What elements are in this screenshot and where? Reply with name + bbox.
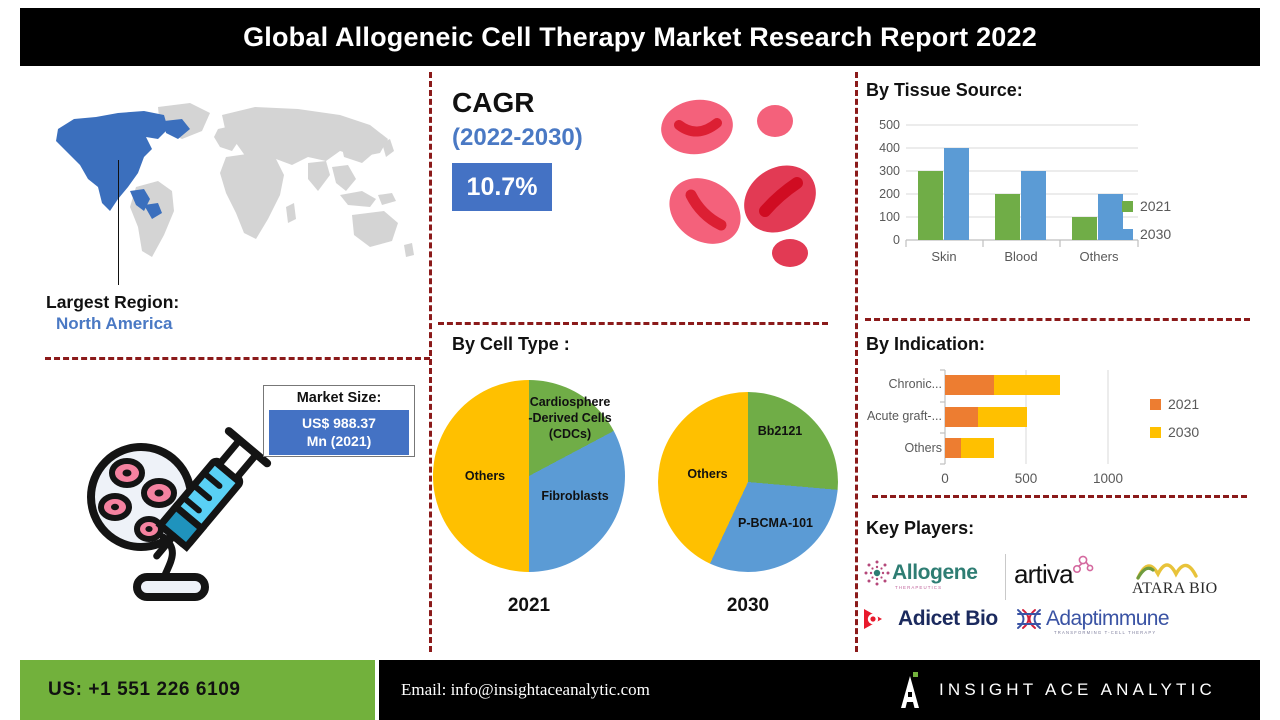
vertical-divider-left [429,72,432,652]
legend-label-2021: 2021 [1140,198,1171,214]
logo-adaptimmune[interactable]: Adaptimmune TRANSFORMING T-CELL THERAPY [1014,604,1169,634]
allogene-mark-icon [862,558,892,588]
cagr-block: CAGR (2022-2030) 10.7% [452,85,652,211]
artiva-wordmark: artiva [1014,559,1073,590]
logo-allogene[interactable]: Allogene THERAPEUTICS [862,558,977,588]
footer-brand: INSIGHT ACE ANALYTIC [899,660,1216,720]
footer-bar: Email: info@insightaceanalytic.com INSIG… [379,660,1260,720]
svg-text:400: 400 [879,141,900,155]
market-size-label: Market Size: [269,389,409,408]
largest-region-label: Largest Region: [46,291,386,313]
pie-2030-label-pbcma: P-BCMA-101 [718,515,833,531]
svg-text:100: 100 [879,210,900,224]
cagr-value: 10.7% [467,173,538,202]
cdc-line-3: (CDCs) [549,427,591,441]
world-map-icon [40,95,420,275]
cdc-line-2: -Derived Cells [528,411,611,425]
adaptimmune-tagline: TRANSFORMING T-CELL THERAPY [1054,630,1156,635]
logo-artiva[interactable]: artiva [1014,554,1097,594]
indication-chart: Chronic... Acute graft-... Others [866,366,1156,491]
atara-wordmark: ATARA BIO [1132,580,1217,598]
cagr-label: CAGR [452,85,652,121]
artiva-mark-icon [1071,554,1097,580]
tissue-source-title: By Tissue Source: [866,80,1023,101]
indication-legend-label-2021: 2021 [1168,396,1199,412]
market-size-value-line1: US$ 988.37 [269,414,409,432]
footer-phone-bar: US: +1 551 226 6109 [20,660,375,720]
pie-2030-label-bb2121: Bb2121 [735,423,825,439]
svg-text:0: 0 [893,233,900,247]
pie-2021-year: 2021 [433,595,625,617]
largest-region-block: Largest Region: North America [46,291,386,335]
indication-legend-label-2030: 2030 [1168,424,1199,440]
legend-swatch-2030 [1122,229,1133,240]
page-header: Global Allogeneic Cell Therapy Market Re… [20,8,1260,66]
svg-text:Blood: Blood [1004,249,1037,264]
pie-2021-label-fibroblasts: Fibroblasts [520,488,630,504]
indication-legend: 2021 2030 [1150,396,1250,452]
indication-legend-item-2030: 2030 [1150,424,1250,440]
largest-region-value: North America [46,313,386,335]
adaptimmune-mark-icon [1014,604,1044,634]
pie-2021-label-cdcs: Cardiosphere -Derived Cells (CDCs) [510,394,630,442]
pie-2030-label-others: Others [665,466,750,482]
legend-item-2021: 2021 [1122,198,1232,214]
svg-text:Acute graft-...: Acute graft-... [867,409,942,423]
svg-text:Skin: Skin [931,249,956,264]
horizontal-divider-middle [438,322,828,325]
footer-email[interactable]: Email: info@insightaceanalytic.com [379,680,650,700]
cdc-line-1: Cardiosphere [530,395,611,409]
svg-text:500: 500 [879,118,900,132]
adicet-mark-icon [862,606,894,632]
legend-item-2030: 2030 [1122,226,1232,242]
indication-legend-item-2021: 2021 [1150,396,1250,412]
cell-type-title: By Cell Type : [452,334,570,355]
horizontal-divider-left [45,357,430,360]
horizontal-divider-right-bottom [872,495,1247,498]
svg-text:300: 300 [879,164,900,178]
indication-title: By Indication: [866,334,985,355]
logo-separator [1005,554,1006,600]
indication-legend-swatch-2030 [1150,427,1161,438]
allogene-wordmark: Allogene [892,561,977,585]
pie-2021-label-others: Others [440,468,530,484]
tissue-source-legend: 2021 2030 [1122,198,1232,254]
logo-atara[interactable]: ATARA BIO [1132,554,1217,598]
market-size-value: US$ 988.37 Mn (2021) [269,410,409,455]
cagr-value-box: 10.7% [452,163,552,211]
pie-2030-year: 2030 [658,595,838,617]
atara-mark-icon [1134,554,1216,580]
market-size-value-line2: Mn (2021) [269,432,409,450]
legend-swatch-2021 [1122,201,1133,212]
legend-label-2030: 2030 [1140,226,1171,242]
pie-chart-2030 [658,392,838,572]
map-leader-line [118,160,119,285]
svg-text:200: 200 [879,187,900,201]
svg-text:Chronic...: Chronic... [889,377,943,391]
cagr-period: (2022-2030) [452,121,652,155]
adicet-wordmark: Adicet Bio [898,607,998,631]
brand-logo-icon [899,672,923,708]
adaptimmune-wordmark: Adaptimmune [1046,607,1169,631]
page-title: Global Allogeneic Cell Therapy Market Re… [243,22,1037,53]
indication-legend-swatch-2021 [1150,399,1161,410]
key-players-title: Key Players: [866,518,974,539]
allogene-tagline: THERAPEUTICS [895,585,942,590]
brand-name: INSIGHT ACE ANALYTIC [939,680,1216,700]
infographic-page: Global Allogeneic Cell Therapy Market Re… [0,0,1280,720]
svg-text:1000: 1000 [1093,471,1123,486]
logo-adicet[interactable]: Adicet Bio [862,606,998,632]
vertical-divider-right [855,72,858,652]
tissue-source-chart: 500 400 300 200 100 0 [866,116,1146,264]
horizontal-divider-right-top [865,318,1250,321]
svg-text:Others: Others [904,441,942,455]
blood-cells-icon [655,95,835,285]
svg-text:Others: Others [1079,249,1119,264]
footer-phone[interactable]: US: +1 551 226 6109 [20,679,241,701]
svg-text:500: 500 [1015,471,1038,486]
key-players-grid: Allogene THERAPEUTICS artiva [862,548,1254,648]
svg-text:0: 0 [941,471,949,486]
market-size-box: Market Size: US$ 988.37 Mn (2021) [263,385,415,457]
